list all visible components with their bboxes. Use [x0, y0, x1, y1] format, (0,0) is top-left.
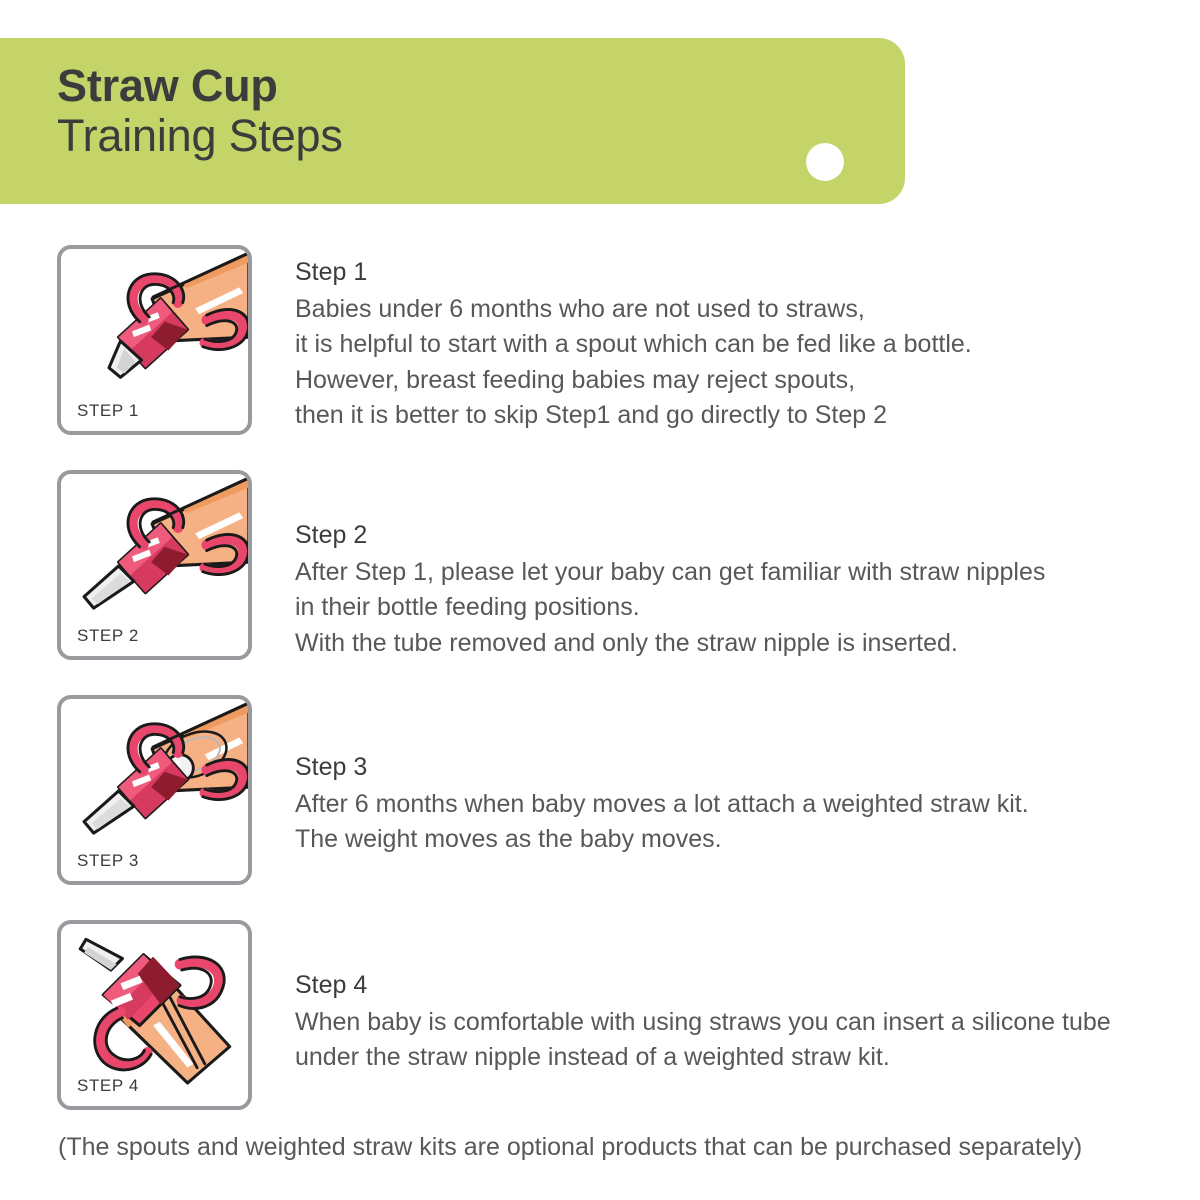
punch-hole-circle-icon — [806, 143, 844, 181]
step-2-text-block: Step 2 After Step 1, please let your bab… — [295, 518, 1175, 661]
step-1-thumbnail: STEP 1 — [57, 245, 252, 435]
step-1-line: then it is better to skip Step1 and go d… — [295, 398, 1175, 434]
step-3-thumbnail: STEP 3 — [57, 695, 252, 885]
step-3-text-block: Step 3 After 6 months when baby moves a … — [295, 750, 1175, 858]
header-banner: Straw Cup Training Steps — [0, 38, 905, 204]
footnote-text: (The spouts and weighted straw kits are … — [58, 1133, 1178, 1162]
step-1-body: Babies under 6 months who are not used t… — [295, 292, 1175, 434]
step-1-heading: Step 1 — [295, 255, 1175, 291]
straw-cup-instruction-page: Straw Cup Training Steps — [0, 0, 1200, 1200]
page-title: Straw Cup — [57, 60, 343, 112]
step-3-heading: Step 3 — [295, 750, 1175, 786]
step-4-line: under the straw nipple instead of a weig… — [295, 1040, 1175, 1076]
step-1-thumbnail-label: STEP 1 — [77, 401, 139, 421]
step-2-body: After Step 1, please let your baby can g… — [295, 555, 1175, 662]
step-2-line: in their bottle feeding positions. — [295, 590, 1175, 626]
step-2-line: After Step 1, please let your baby can g… — [295, 555, 1175, 591]
step-4-thumbnail-label: STEP 4 — [77, 1076, 139, 1096]
step-1-line: However, breast feeding babies may rejec… — [295, 363, 1175, 399]
step-3-line: The weight moves as the baby moves. — [295, 822, 1175, 858]
step-1-line: it is helpful to start with a spout whic… — [295, 327, 1175, 363]
step-2-thumbnail-label: STEP 2 — [77, 626, 139, 646]
header-title-block: Straw Cup Training Steps — [57, 60, 343, 162]
step-4-heading: Step 4 — [295, 968, 1175, 1004]
step-1-line: Babies under 6 months who are not used t… — [295, 292, 1175, 328]
step-2-heading: Step 2 — [295, 518, 1175, 554]
step-2-thumbnail: STEP 2 — [57, 470, 252, 660]
page-subtitle: Training Steps — [57, 110, 343, 162]
step-3-body: After 6 months when baby moves a lot att… — [295, 787, 1175, 858]
step-2-line: With the tube removed and only the straw… — [295, 626, 1175, 662]
step-4-line: When baby is comfortable with using stra… — [295, 1005, 1175, 1041]
step-1-text-block: Step 1 Babies under 6 months who are not… — [295, 255, 1175, 434]
step-3-line: After 6 months when baby moves a lot att… — [295, 787, 1175, 823]
step-4-body: When baby is comfortable with using stra… — [295, 1005, 1175, 1076]
step-4-thumbnail: STEP 4 — [57, 920, 252, 1110]
step-4-text-block: Step 4 When baby is comfortable with usi… — [295, 968, 1175, 1076]
step-3-thumbnail-label: STEP 3 — [77, 851, 139, 871]
